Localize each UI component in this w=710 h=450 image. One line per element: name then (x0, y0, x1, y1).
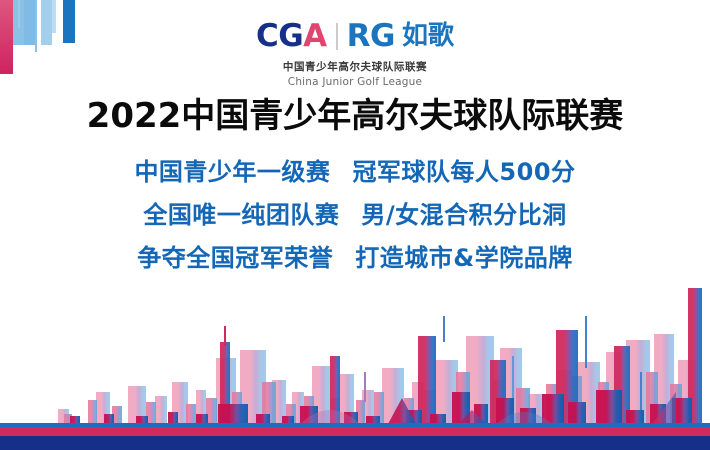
poster-canvas: CGA RG 如歌 中国青少年高尔夫球队际联赛 China Junior Gol… (0, 0, 710, 450)
bottom-band-navy (0, 436, 710, 450)
cga-cg-letters: CG (256, 18, 303, 54)
logo-subtitle-english: China Junior Golf League (288, 76, 422, 88)
city-skyline-graphic (0, 264, 710, 424)
cga-wordmark: CGA (256, 21, 327, 52)
bottom-band-crimson (0, 427, 710, 436)
feature-line-2: 全国唯一纯团队赛男/女混合积分比洞 (0, 203, 710, 227)
rg-wordmark: RG (347, 21, 395, 52)
feature-line-1-left: 中国青少年一级赛 (134, 158, 330, 186)
feature-line-1-right: 冠军球队每人500分 (352, 158, 575, 186)
skyline-svg (0, 264, 710, 424)
cga-a-letter: A (303, 18, 327, 54)
logo-divider (336, 23, 338, 50)
logo-wordmarks: CGA RG 如歌 (256, 20, 454, 52)
logo-lockup: CGA RG 如歌 中国青少年高尔夫球队际联赛 China Junior Gol… (0, 20, 710, 88)
page-title: 2022中国青少年高尔夫球队际联赛 (0, 97, 710, 136)
logo-subtitle-chinese: 中国青少年高尔夫球队际联赛 (283, 59, 427, 74)
feature-line-2-left: 全国唯一纯团队赛 (143, 201, 339, 229)
rugo-wordmark: 如歌 (402, 23, 454, 49)
feature-line-1: 中国青少年一级赛冠军球队每人500分 (0, 160, 710, 184)
feature-line-2-right: 男/女混合积分比洞 (361, 201, 566, 229)
